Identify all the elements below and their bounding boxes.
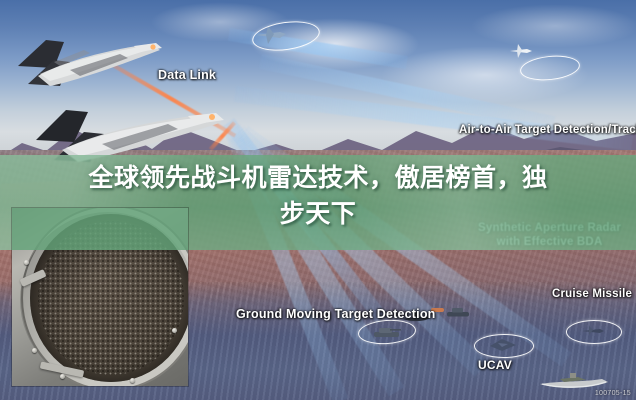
aesa-radar-inset-photo bbox=[12, 208, 188, 386]
label-air-to-air-detection: Air-to-Air Target Detection/Track bbox=[459, 124, 636, 138]
headline-text: 全球领先战斗机雷达技术，傲居榜首，独 步天下 bbox=[0, 160, 636, 231]
inset-bolt-4 bbox=[130, 378, 135, 383]
label-cruise-missile: Cruise Missile bbox=[552, 288, 632, 302]
inset-bolt-3 bbox=[60, 374, 65, 379]
cruise-missile bbox=[580, 324, 606, 337]
target-aircraft-right bbox=[508, 43, 534, 59]
label-ground-moving-target-detection: Ground Moving Target Detection bbox=[236, 307, 436, 322]
ground-vehicle-convoy bbox=[446, 306, 472, 319]
label-data-link: Data Link bbox=[158, 68, 216, 83]
inset-bolt-2 bbox=[32, 348, 37, 353]
label-ucav: UCAV bbox=[478, 358, 512, 372]
corner-reference-code: 100705-15 bbox=[595, 390, 631, 397]
headline-line-2: 步天下 bbox=[280, 199, 357, 228]
headline-line-1: 全球领先战斗机雷达技术，傲居榜首，独 bbox=[88, 163, 547, 192]
ucav-aircraft bbox=[488, 336, 518, 354]
inset-bolt-5 bbox=[172, 328, 177, 333]
naval-ship-right bbox=[538, 368, 612, 392]
fighter-jet-upper bbox=[10, 26, 170, 94]
radar-capability-image: Data Link Air-to-Air Target Detection/Tr… bbox=[0, 0, 636, 400]
ground-vehicle-tank bbox=[372, 324, 402, 339]
inset-bolt-1 bbox=[24, 260, 29, 265]
